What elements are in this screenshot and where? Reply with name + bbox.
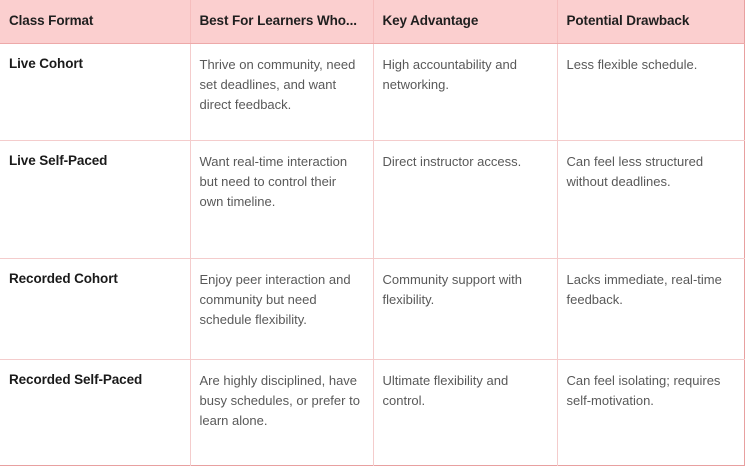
- column-header-key-advantage: Key Advantage: [373, 0, 557, 44]
- cell-potential-drawback: Can feel isolating; requires self-motiva…: [557, 360, 744, 466]
- table-row: Recorded Self-Paced Are highly disciplin…: [0, 360, 744, 466]
- cell-potential-drawback: Can feel less structured without deadlin…: [557, 141, 744, 259]
- column-header-class-format: Class Format: [0, 0, 190, 44]
- cell-class-format: Live Self-Paced: [0, 141, 190, 259]
- class-format-comparison-table: Class Format Best For Learners Who... Ke…: [0, 0, 745, 466]
- table-header-row: Class Format Best For Learners Who... Ke…: [0, 0, 744, 44]
- table-body: Live Cohort Thrive on community, need se…: [0, 44, 744, 466]
- cell-potential-drawback: Less flexible schedule.: [557, 44, 744, 141]
- comparison-table-container: Class Format Best For Learners Who... Ke…: [0, 0, 750, 422]
- table-row: Live Self-Paced Want real-time interacti…: [0, 141, 744, 259]
- cell-best-for-learners: Enjoy peer interaction and community but…: [190, 259, 373, 360]
- cell-best-for-learners: Want real-time interaction but need to c…: [190, 141, 373, 259]
- cell-class-format: Recorded Self-Paced: [0, 360, 190, 466]
- column-header-potential-drawback: Potential Drawback: [557, 0, 744, 44]
- table-header: Class Format Best For Learners Who... Ke…: [0, 0, 744, 44]
- table-row: Recorded Cohort Enjoy peer interaction a…: [0, 259, 744, 360]
- cell-key-advantage: High accountability and networking.: [373, 44, 557, 141]
- cell-class-format: Recorded Cohort: [0, 259, 190, 360]
- table-row: Live Cohort Thrive on community, need se…: [0, 44, 744, 141]
- column-header-best-for-learners: Best For Learners Who...: [190, 0, 373, 44]
- cell-key-advantage: Community support with flexibility.: [373, 259, 557, 360]
- cell-key-advantage: Direct instructor access.: [373, 141, 557, 259]
- cell-best-for-learners: Thrive on community, need set deadlines,…: [190, 44, 373, 141]
- cell-best-for-learners: Are highly disciplined, have busy schedu…: [190, 360, 373, 466]
- cell-potential-drawback: Lacks immediate, real-time feedback.: [557, 259, 744, 360]
- cell-class-format: Live Cohort: [0, 44, 190, 141]
- cell-key-advantage: Ultimate flexibility and control.: [373, 360, 557, 466]
